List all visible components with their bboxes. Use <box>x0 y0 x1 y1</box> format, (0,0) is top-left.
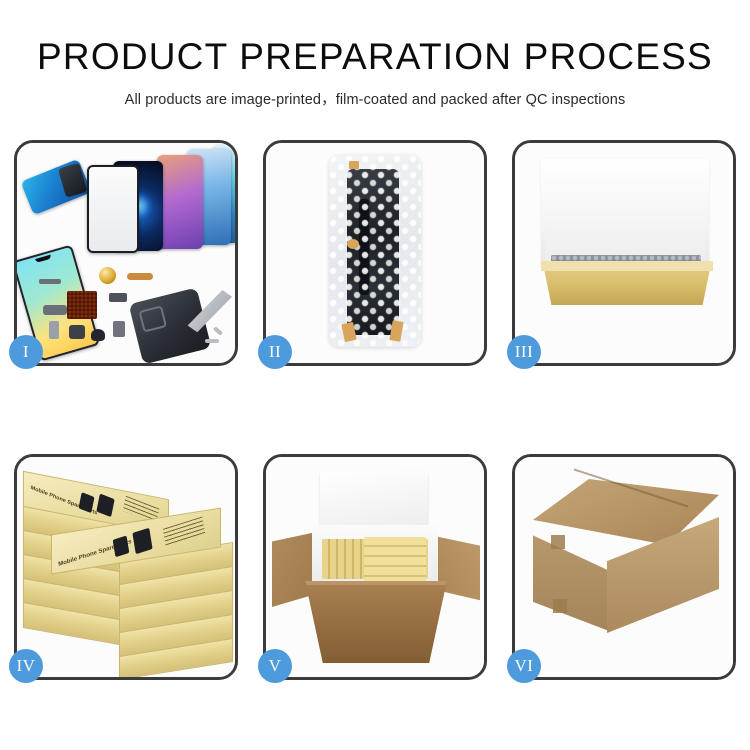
small-chip-4 <box>69 325 85 339</box>
step-badge-6: VI <box>507 649 541 683</box>
tape-mid <box>347 239 359 249</box>
bubble-wrap-bag <box>329 155 421 347</box>
small-chip-2 <box>43 305 67 315</box>
bubble-texture <box>329 155 421 347</box>
step-6-photo <box>515 457 733 677</box>
step-1-photo <box>17 143 235 363</box>
sealed-carton-left-face <box>533 527 609 631</box>
process-step-1[interactable]: I <box>14 140 238 366</box>
header: PRODUCT PREPARATION PROCESS All products… <box>0 0 750 109</box>
carton-body <box>306 585 446 663</box>
step-5-photo <box>266 457 484 677</box>
small-chip-5 <box>113 321 125 337</box>
step-badge-5: V <box>258 649 292 683</box>
phone-screen-purple <box>157 155 203 249</box>
step-4-photo: Mobile Phone Spare Parts Mobile Phone Sp… <box>17 457 235 677</box>
page-title: PRODUCT PREPARATION PROCESS <box>0 38 750 77</box>
process-step-grid: I II <box>14 140 736 680</box>
logic-board-part <box>67 291 97 319</box>
step-badge-2: II <box>258 335 292 369</box>
screw-part-2 <box>213 326 223 335</box>
carton-tape-upper <box>551 535 565 549</box>
step-badge-4: IV <box>9 649 43 683</box>
screw-part-1 <box>205 339 219 343</box>
speaker-part <box>91 329 105 341</box>
process-step-2[interactable]: II <box>263 140 487 366</box>
phone-screen-glass-protector <box>87 165 139 253</box>
process-step-5[interactable]: V <box>263 454 487 680</box>
process-step-6[interactable]: VI <box>512 454 736 680</box>
packed-retail-boxes-row2 <box>364 537 426 581</box>
box-label-phone-image-3 <box>113 536 130 558</box>
step-3-photo <box>515 143 733 363</box>
gold-component-icon <box>99 267 116 284</box>
box-label-spec-lines-lower <box>163 516 205 546</box>
phone-notch-icon <box>35 255 51 263</box>
small-chip-6 <box>109 293 127 302</box>
step-badge-1: I <box>9 335 43 369</box>
process-step-3[interactable]: III <box>512 140 736 366</box>
step-2-photo <box>266 143 484 363</box>
step-badge-3: III <box>507 335 541 369</box>
carton-tape-lower <box>553 599 567 613</box>
small-chip-1 <box>39 279 61 284</box>
phone-screen-blue-tilted <box>21 159 92 216</box>
box-label-phone-image-4 <box>132 528 152 555</box>
process-step-4[interactable]: Mobile Phone Spare Parts Mobile Phone Sp… <box>14 454 238 680</box>
page-subtitle: All products are image-printed，film-coat… <box>0 88 750 109</box>
tape-top <box>349 161 359 169</box>
small-chip-3 <box>49 321 59 339</box>
flex-cable-1 <box>127 273 153 280</box>
product-preparation-infographic: PRODUCT PREPARATION PROCESS All products… <box>0 0 750 750</box>
foam-box-lid <box>320 471 428 533</box>
stacked-retail-boxes: Mobile Phone Spare Parts Mobile Phone Sp… <box>23 471 235 667</box>
kraft-box-front-edge <box>541 261 713 271</box>
foam-sheet <box>545 195 705 261</box>
box-label-phone-image-2 <box>96 494 114 518</box>
